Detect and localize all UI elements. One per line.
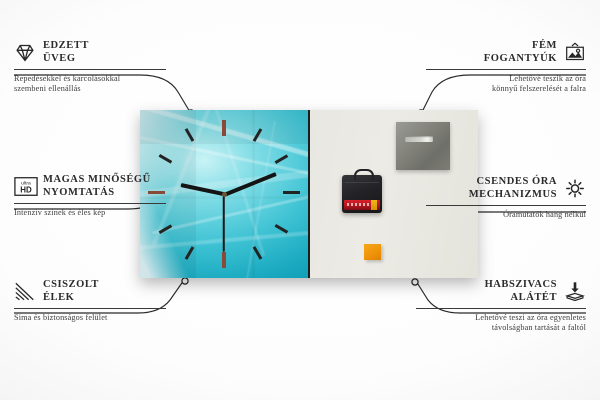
callout-title-line2: ÉLEK (43, 292, 99, 305)
gear-icon (564, 178, 586, 199)
svg-text:HD: HD (20, 186, 32, 195)
callout-title-line2: ALÁTÉT (485, 292, 557, 305)
callout-title-line1: EDZETT (43, 40, 89, 53)
clock-hub (222, 192, 227, 197)
second-hand (223, 194, 225, 252)
picture-hanger-icon (564, 42, 586, 63)
callout-desc-line1: Sima és biztonságos felület (14, 313, 166, 323)
callout-divider (426, 205, 586, 206)
callout-divider (14, 69, 166, 70)
mechanism-hanger-loop (354, 169, 374, 180)
callout-desc-line2: szembeni ellenállás (14, 84, 166, 94)
clock-mechanism (342, 175, 382, 213)
callout-foam-backing: HABSZIVACS ALÁTÉT Lehetővé teszi az óra … (416, 279, 586, 334)
callout-desc-line2: távolságban tartását a faltól (416, 323, 586, 333)
callout-divider (14, 203, 166, 204)
callout-silent-mechanism: CSENDES ÓRA MECHANIZMUS Óramutatók hang … (426, 176, 586, 220)
callout-title-line1: FÉM (484, 40, 557, 53)
callout-desc-line1: Lehetővé teszi az óra egyenletes (416, 313, 586, 323)
callout-desc-line2: könnyű felszerelését a falra (426, 84, 586, 94)
callout-title-line1: MAGAS MINŐSÉGŰ (43, 174, 151, 187)
foam-pad (364, 244, 381, 260)
callout-title-line2: NYOMTATÁS (43, 187, 151, 200)
callout-title-line1: HABSZIVACS (485, 279, 557, 292)
callout-title-line2: ÜVEG (43, 53, 89, 66)
polished-edge-icon (14, 281, 36, 302)
endpoint-polished-edges (182, 278, 188, 284)
diamond-icon (14, 42, 36, 63)
callout-divider (426, 69, 586, 70)
callout-metal-handles: FÉM FOGANTYÚK Lehetővé teszik az óra kön… (426, 40, 586, 95)
ultra-hd-icon: ultra HD (14, 176, 36, 197)
callout-desc-line1: Repedésekkel és karcolásokkal (14, 74, 166, 84)
foam-press-icon (564, 281, 586, 302)
callout-title-line2: FOGANTYÚK (484, 53, 557, 66)
callout-divider (416, 308, 586, 309)
callout-tempered-glass: EDZETT ÜVEG Repedésekkel és karcolásokka… (14, 40, 166, 95)
product-feature-infographic: EDZETT ÜVEG Repedésekkel és karcolásokka… (0, 0, 600, 400)
metal-hanger-plate (396, 122, 450, 170)
battery (344, 200, 380, 210)
callout-polished-edges: CSISZOLT ÉLEK Sima és biztonságos felüle… (14, 279, 166, 323)
callout-title-line1: CSISZOLT (43, 279, 99, 292)
callout-desc-line1: Óramutatók hang nélkül (426, 210, 586, 220)
callout-title-line1: CSENDES ÓRA (469, 176, 557, 189)
hanger-slot (405, 136, 433, 142)
callout-divider (14, 308, 166, 309)
callout-desc-line1: Lehetővé teszik az óra (426, 74, 586, 84)
callout-high-quality-print: ultra HD MAGAS MINŐSÉGŰ NYOMTATÁS Intenz… (14, 174, 166, 218)
callout-desc-line1: Intenzív színek és éles kép (14, 208, 166, 218)
callout-title-line2: MECHANIZMUS (469, 189, 557, 202)
